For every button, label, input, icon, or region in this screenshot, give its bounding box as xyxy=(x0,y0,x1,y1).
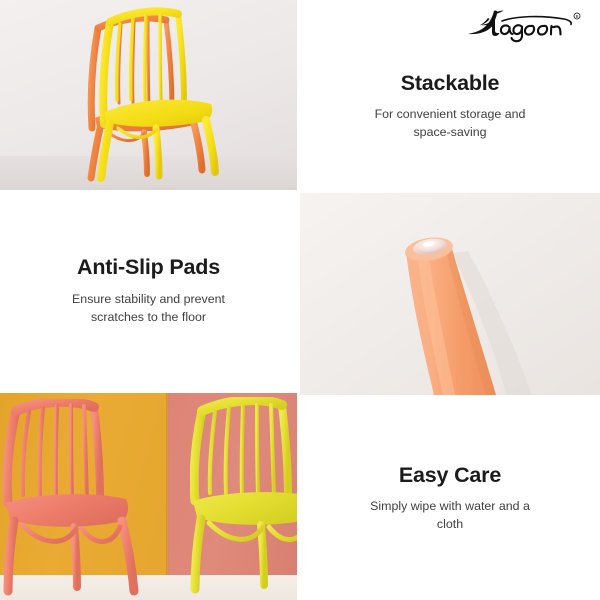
easycare-text-panel: Easy Care Simply wipe with water and a c… xyxy=(300,398,600,600)
stackable-text-stack: Stackable For convenient storage and spa… xyxy=(355,72,545,143)
stackable-text-panel: R Stackable For convenient storage and s… xyxy=(300,0,600,190)
stacked-chairs-illustration xyxy=(48,6,258,186)
svg-text:R: R xyxy=(575,14,578,19)
antislip-body: Ensure stability and prevent scratches t… xyxy=(61,291,236,327)
vertical-gutter xyxy=(297,0,300,600)
chair-leg-photo-panel xyxy=(300,193,600,395)
horizontal-gutter-left-lower xyxy=(0,390,300,393)
stackable-body: For convenient storage and space-saving xyxy=(355,106,545,142)
chair-leg-illustration xyxy=(300,193,600,395)
lagoon-heron-script-logo-icon: R xyxy=(466,8,584,44)
product-feature-infographic: R Stackable For convenient storage and s… xyxy=(0,0,600,600)
antislip-text-panel: Anti-Slip Pads Ensure stability and prev… xyxy=(0,193,297,390)
two-chairs-photo-panel xyxy=(0,393,297,600)
easycare-heading: Easy Care xyxy=(399,464,501,488)
horizontal-gutter-right-upper xyxy=(300,190,600,193)
wall-seam xyxy=(166,393,170,575)
antislip-heading: Anti-Slip Pads xyxy=(77,256,220,280)
horizontal-gutter-left-upper xyxy=(0,190,300,193)
coral-chair-illustration xyxy=(2,399,154,599)
horizontal-gutter-right-lower xyxy=(300,395,600,398)
registered-trademark-icon: R xyxy=(574,13,580,19)
easycare-body: Simply wipe with water and a cloth xyxy=(360,498,540,534)
stacked-chairs-photo-panel xyxy=(0,0,297,190)
stackable-heading: Stackable xyxy=(355,72,545,96)
lagoon-logo: R xyxy=(466,8,584,44)
yellow-chair-illustration xyxy=(190,397,297,597)
